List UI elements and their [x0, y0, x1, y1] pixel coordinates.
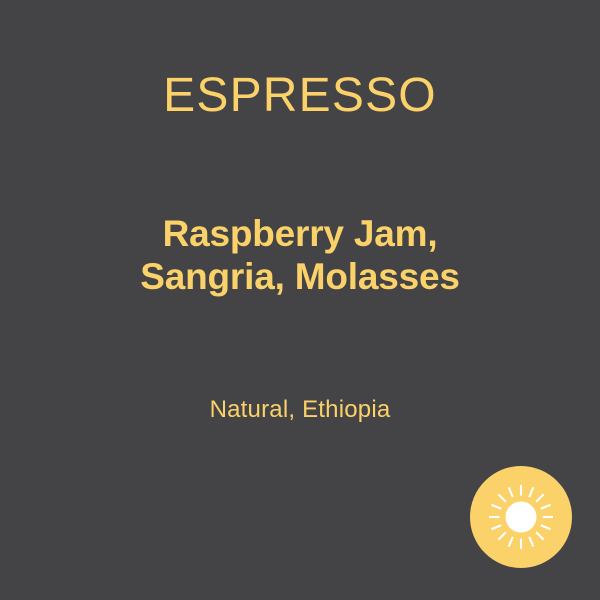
sun-icon	[470, 466, 572, 568]
sun-ray	[529, 487, 533, 497]
sun-ray	[498, 494, 505, 501]
sun-ray	[491, 525, 501, 529]
sun-ray	[498, 532, 505, 539]
sun-ray	[541, 525, 551, 529]
sun-ray	[541, 505, 551, 509]
sun-ray	[536, 494, 543, 501]
sun-ray	[529, 537, 533, 547]
category-label: ESPRESSO	[0, 64, 600, 128]
tasting-notes-line: Raspberry Jam,	[163, 213, 438, 254]
sun-ray	[491, 505, 501, 509]
sun-badge	[470, 466, 572, 568]
tasting-notes-line: Sangria, Molasses	[140, 256, 459, 297]
sun-ray	[536, 532, 543, 539]
tasting-notes-heading: Raspberry Jam,Sangria, Molasses	[60, 212, 540, 298]
origin-label: Natural, Ethiopia	[0, 394, 600, 426]
coffee-bag-card: ESPRESSO Raspberry Jam,Sangria, Molasses…	[0, 0, 600, 600]
sun-ray	[509, 487, 513, 497]
sun-ray	[509, 537, 513, 547]
